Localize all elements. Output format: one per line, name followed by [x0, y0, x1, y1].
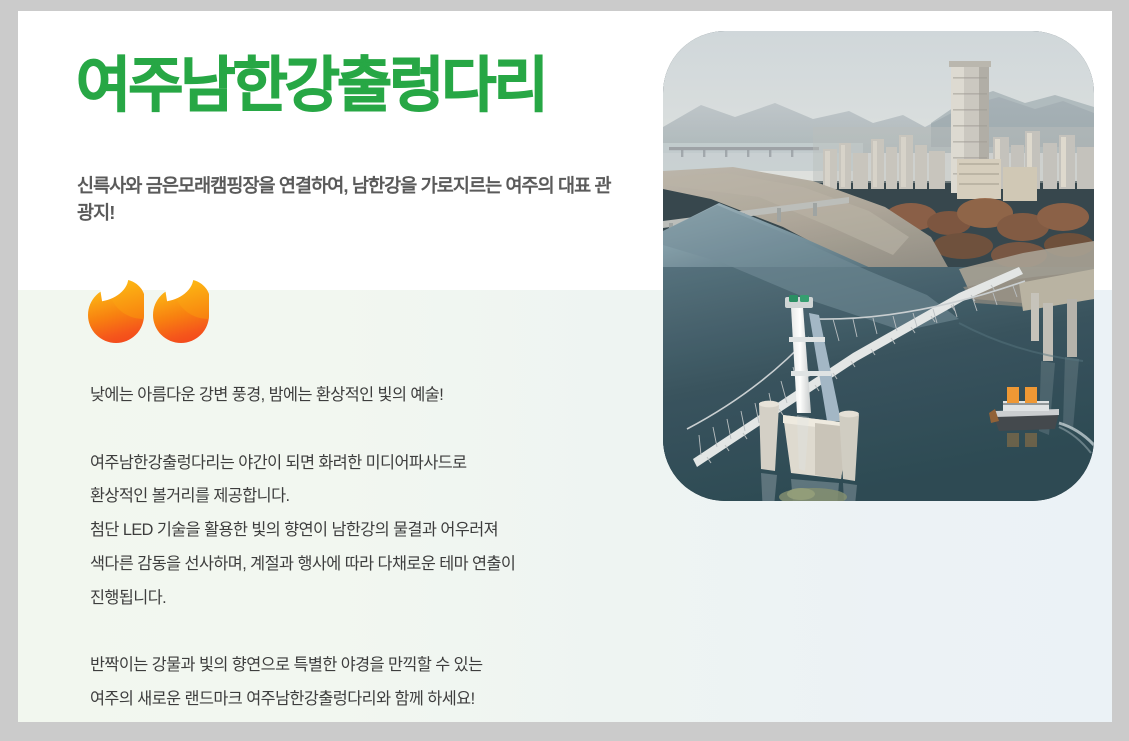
yeoju-namhangang-suspension-bridge-aerial-photo — [663, 31, 1094, 501]
photo-illustration — [663, 31, 1094, 501]
quote-glyph-right — [153, 279, 209, 343]
body-paragraph: 여주남한강출렁다리는 야간이 되면 화려한 미디어파사드로환상적인 볼거리를 제… — [90, 447, 636, 616]
text-column: 여주남한강출렁다리 신륵사와 금은모래캠핑장을 연결하여, 남한강을 가로지르는… — [76, 11, 636, 722]
body-paragraph: 낮에는 아름다운 강변 풍경, 밤에는 환상적인 빛의 예술! — [90, 379, 636, 413]
double-quote-icon — [88, 279, 210, 343]
content-card: 여주남한강출렁다리 신륵사와 금은모래캠핑장을 연결하여, 남한강을 가로지르는… — [18, 11, 1112, 722]
page-subtitle: 신륵사와 금은모래캠핑장을 연결하여, 남한강을 가로지르는 여주의 대표 관광… — [77, 172, 617, 227]
page-root: 여주남한강출렁다리 신륵사와 금은모래캠핑장을 연결하여, 남한강을 가로지르는… — [0, 0, 1129, 741]
body-paragraph: 반짝이는 강물과 빛의 향연으로 특별한 야경을 만끽할 수 있는여주의 새로운… — [90, 649, 636, 717]
body-copy: 낮에는 아름다운 강변 풍경, 밤에는 환상적인 빛의 예술!여주남한강출렁다리… — [90, 379, 636, 717]
page-title: 여주남한강출렁다리 — [76, 56, 546, 116]
quote-glyph-left — [88, 279, 144, 343]
